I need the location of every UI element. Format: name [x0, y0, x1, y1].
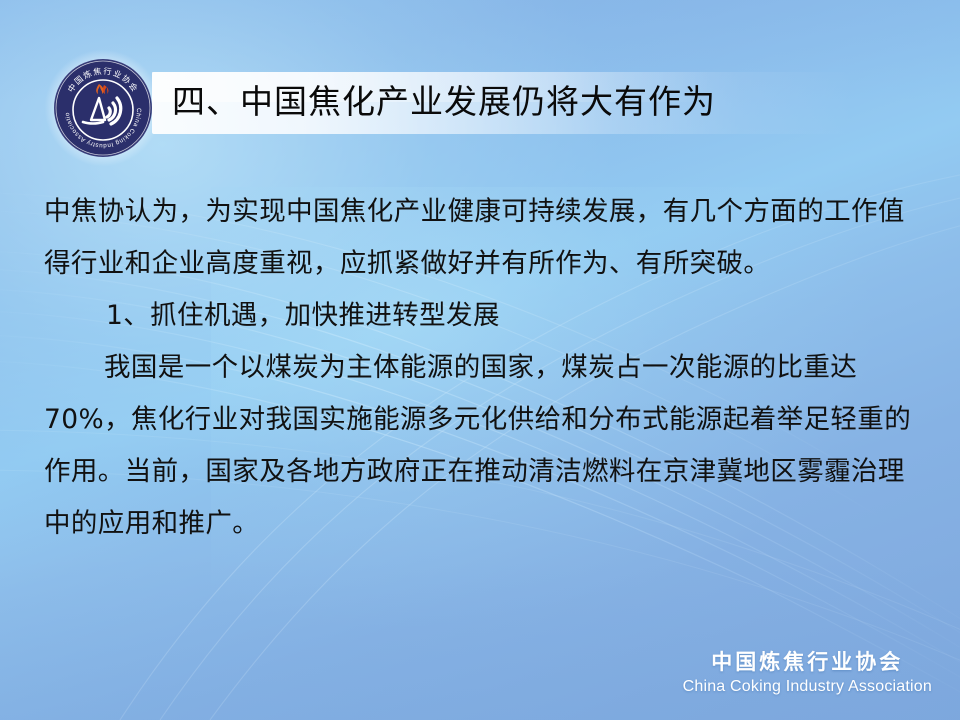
body-paragraph-2: 1、抓住机遇，加快推进转型发展 — [44, 290, 924, 342]
logo-emblem-icon: 中国炼焦行业协会 China Coking Industry Associati… — [53, 58, 153, 158]
footer-branding: 中国炼焦行业协会 China Coking Industry Associati… — [683, 648, 932, 698]
footer-name-en: China Coking Industry Association — [683, 676, 932, 698]
page-title: 四、中国焦化产业发展仍将大有作为 — [172, 78, 716, 128]
presentation-slide: 四、中国焦化产业发展仍将大有作为 中国炼焦行业协会 China Coking I… — [0, 0, 960, 720]
footer-name-cn: 中国炼焦行业协会 — [683, 648, 932, 676]
body-paragraph-3-text: 我国是一个以煤炭为主体能源的国家，煤炭占一次能源的比重达70%，焦化行业对我国实… — [44, 352, 911, 539]
slide-body: 中焦协认为，为实现中国焦化产业健康可持续发展，有几个方面的工作值得行业和企业高度… — [44, 186, 924, 550]
association-logo: 中国炼焦行业协会 China Coking Industry Associati… — [53, 58, 153, 158]
body-paragraph-1: 中焦协认为，为实现中国焦化产业健康可持续发展，有几个方面的工作值得行业和企业高度… — [44, 186, 920, 290]
body-paragraph-3: 我国是一个以煤炭为主体能源的国家，煤炭占一次能源的比重达70%，焦化行业对我国实… — [44, 342, 920, 550]
